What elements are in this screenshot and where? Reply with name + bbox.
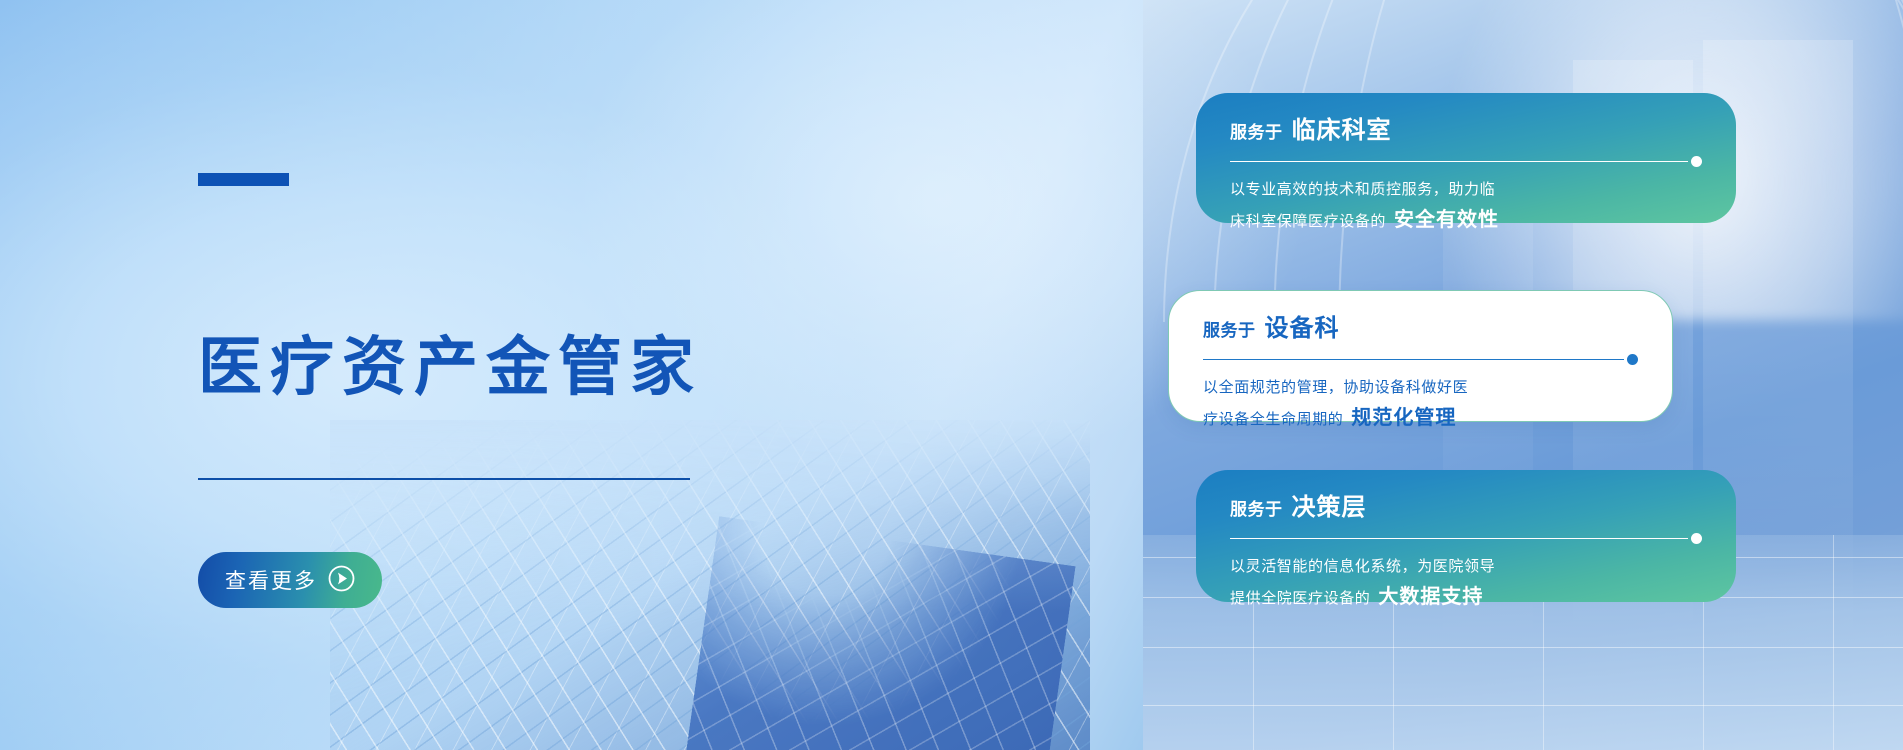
arrow-right-circle-icon (328, 565, 355, 595)
card-rule-dot (1691, 533, 1702, 544)
card-desc-highlight: 规范化管理 (1351, 403, 1456, 433)
card-heading: 服务于 临床科室 (1230, 119, 1702, 143)
card-desc-line-2: 提供全院医疗设备的 大数据支持 (1230, 582, 1702, 614)
card-heading: 服务于 决策层 (1230, 496, 1702, 520)
card-target: 临床科室 (1292, 119, 1392, 143)
card-rule-dot (1627, 354, 1638, 365)
page-title: 医疗资产金管家 (198, 331, 702, 405)
service-card-decision[interactable]: 服务于 决策层 以灵活智能的信息化系统，为医院领导 提供全院医疗设备的 大数据支… (1196, 470, 1736, 602)
card-desc-line-1: 以专业高效的技术和质控服务，助力临 (1230, 175, 1702, 205)
service-card-equipment[interactable]: 服务于 设备科 以全面规范的管理，协助设备科做好医 疗设备全生命周期的 规范化管… (1168, 290, 1673, 422)
card-desc-lead: 提供全院医疗设备的 (1230, 584, 1370, 614)
card-description: 以灵活智能的信息化系统，为医院领导 提供全院医疗设备的 大数据支持 (1230, 552, 1702, 614)
card-rule-line (1230, 161, 1688, 162)
card-desc-highlight: 安全有效性 (1394, 205, 1499, 235)
service-card-clinical[interactable]: 服务于 临床科室 以专业高效的技术和质控服务，助力临 床科室保障医疗设备的 安全… (1196, 93, 1736, 223)
card-rule (1203, 354, 1638, 364)
divider (198, 478, 690, 480)
card-prefix: 服务于 (1203, 322, 1256, 339)
card-rule (1230, 533, 1702, 543)
hero-left-content: 医疗资产金管家 查看更多 (198, 0, 818, 750)
card-rule-line (1203, 359, 1624, 360)
card-rule-line (1230, 538, 1688, 539)
card-description: 以全面规范的管理，协助设备科做好医 疗设备全生命周期的 规范化管理 (1203, 373, 1638, 435)
card-target: 决策层 (1292, 496, 1367, 520)
card-desc-lead: 疗设备全生命周期的 (1203, 405, 1343, 435)
card-description: 以专业高效的技术和质控服务，助力临 床科室保障医疗设备的 安全有效性 (1230, 175, 1702, 237)
card-desc-line-1: 以全面规范的管理，协助设备科做好医 (1203, 373, 1638, 403)
card-desc-line-2: 床科室保障医疗设备的 安全有效性 (1230, 205, 1702, 237)
accent-dash (198, 173, 289, 186)
card-heading: 服务于 设备科 (1203, 317, 1638, 341)
view-more-label: 查看更多 (225, 565, 317, 595)
card-target: 设备科 (1265, 317, 1340, 341)
card-prefix: 服务于 (1230, 124, 1283, 141)
card-desc-lead: 床科室保障医疗设备的 (1230, 207, 1386, 237)
card-rule (1230, 156, 1702, 166)
card-desc-line-2: 疗设备全生命周期的 规范化管理 (1203, 403, 1638, 435)
hero-banner: 医疗资产金管家 查看更多 服务于 临床科室 以专业高效的技术和质控服务，助力临 (0, 0, 1903, 750)
card-desc-line-1: 以灵活智能的信息化系统，为医院领导 (1230, 552, 1702, 582)
card-rule-dot (1691, 156, 1702, 167)
card-prefix: 服务于 (1230, 501, 1283, 518)
view-more-button[interactable]: 查看更多 (198, 552, 382, 608)
card-desc-highlight: 大数据支持 (1378, 582, 1483, 612)
